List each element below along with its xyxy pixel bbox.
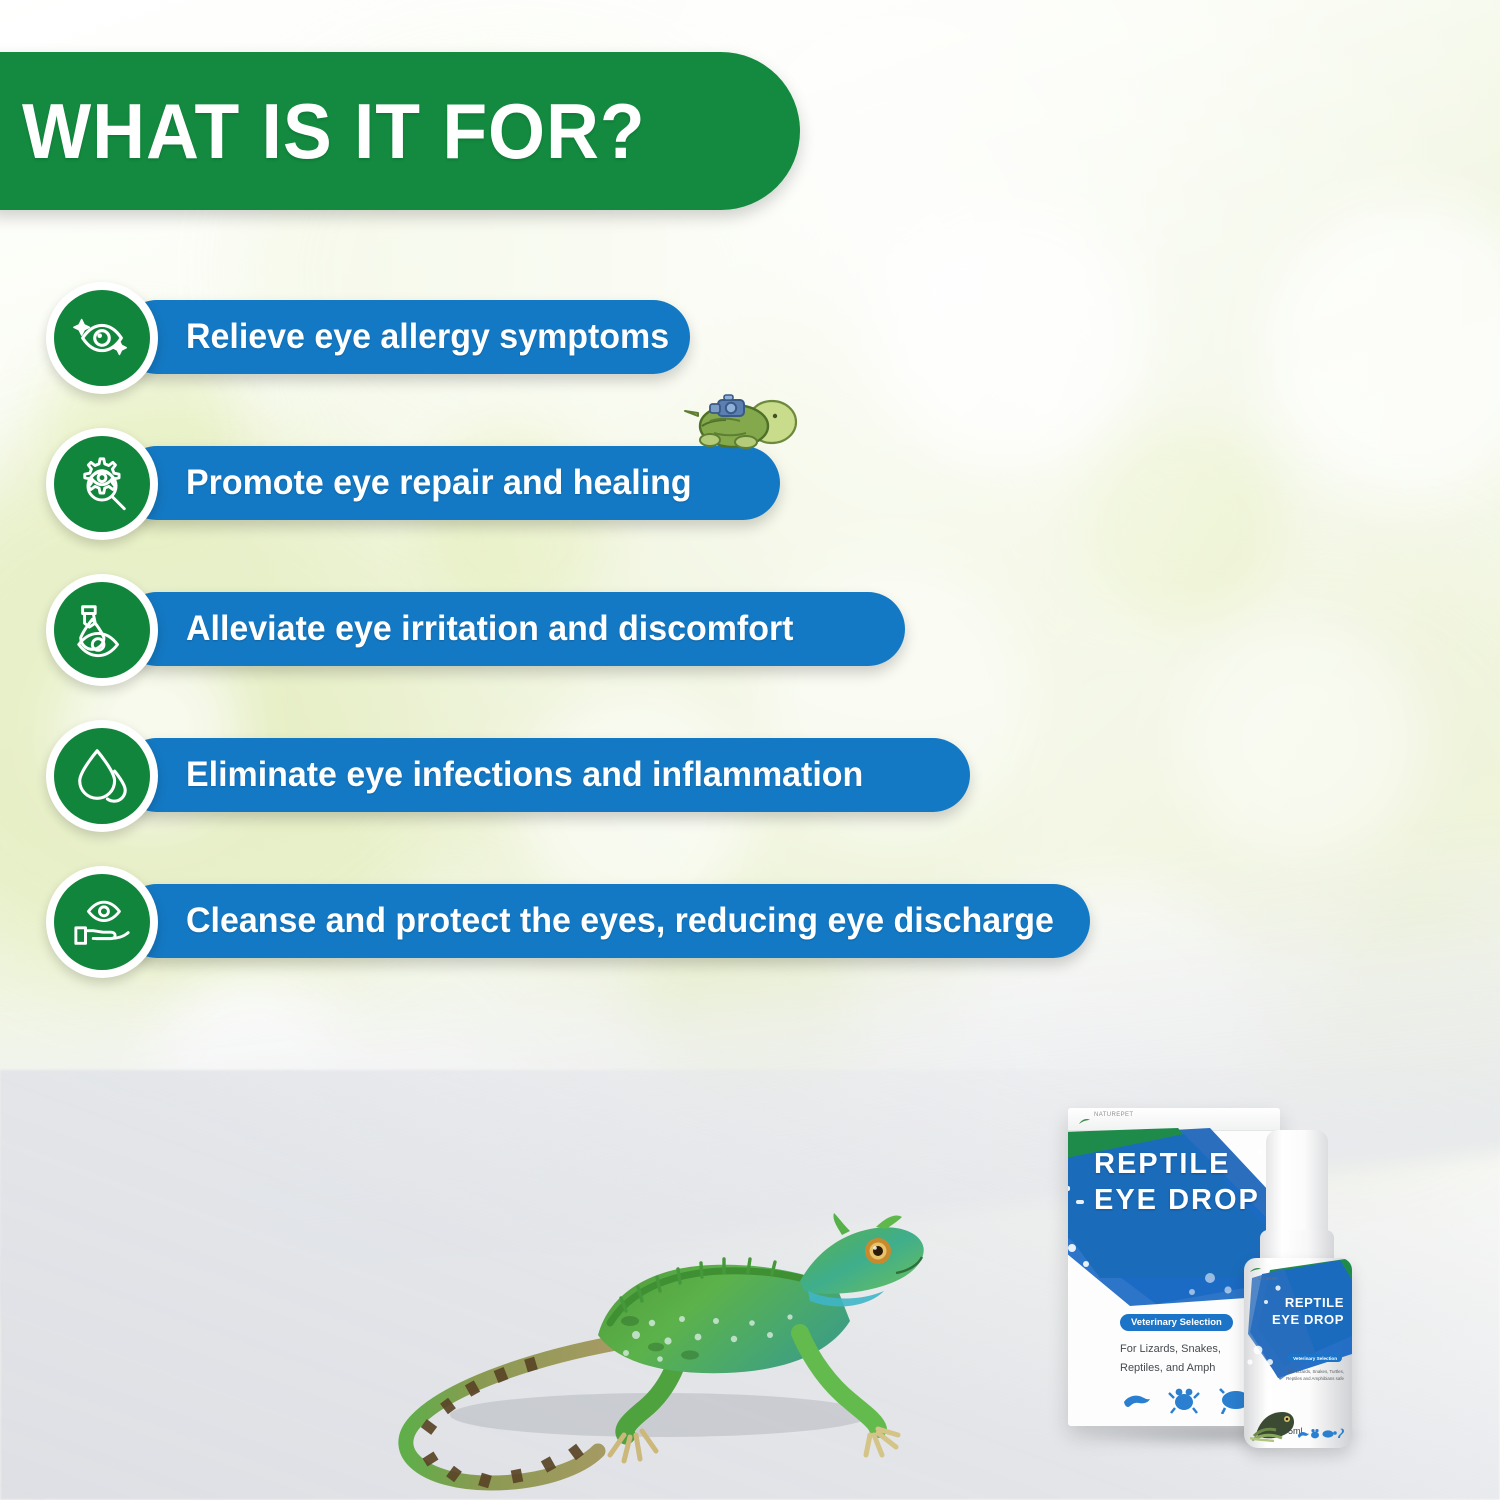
dropper-eye-icon [71, 599, 133, 661]
feature-label: Eliminate eye infections and inflammatio… [186, 755, 863, 795]
feature-label: Alleviate eye irritation and discomfort [186, 609, 793, 649]
feature-pill[interactable]: Relieve eye allergy symptoms [120, 300, 690, 374]
bottle-subtext-line2: Reptiles and Amphibians safe [1286, 1376, 1344, 1381]
turtle-silhouette-icon [1322, 1430, 1336, 1437]
product-group: NATUREPET REPTI [1060, 1090, 1420, 1460]
box-title: REPTILE EYE DROP [1094, 1146, 1260, 1218]
bottle-title-line2: EYE DROP [1272, 1312, 1344, 1327]
box-title-line2: EYE DROP [1094, 1184, 1260, 1216]
lizard-photo [330, 1085, 970, 1500]
box-subtext-line2: Reptiles, and Amph [1120, 1362, 1215, 1374]
bottle-subtext-line1: For Lizards, Snakes, Turtles, [1288, 1369, 1344, 1374]
lizard-silhouette-icon [1123, 1395, 1150, 1411]
product-bottle: NATUREPET REPTILE EYE DROP Veterinary Se… [1238, 1130, 1366, 1450]
eye-sparkle-icon [71, 307, 133, 369]
feature-row: Alleviate eye irritation and discomfort [0, 574, 1500, 720]
header-banner: WHAT IS IT FOR? [0, 52, 800, 210]
box-brand-text: NATUREPET [1094, 1112, 1134, 1118]
bottle-title-line1: REPTILE [1285, 1295, 1344, 1310]
brand-logo-icon [1078, 1113, 1091, 1122]
box-subtext: For Lizards, Snakes, Reptiles, and Amph [1120, 1340, 1221, 1378]
turtle-mascot-icon [680, 388, 804, 458]
bottle-subtext: For Lizards, Snakes, Turtles, Reptiles a… [1286, 1368, 1344, 1382]
feature-label: Promote eye repair and healing [186, 463, 692, 503]
feature-label: Relieve eye allergy symptoms [186, 317, 669, 357]
frog-silhouette-icon [1169, 1389, 1199, 1413]
water-droplets-icon [71, 745, 133, 807]
gear-eye-magnifier-icon [71, 453, 133, 515]
veterinary-badge: Veterinary Selection [1120, 1314, 1233, 1331]
bottle-label: NATUREPET REPTILE EYE DROP Veterinary Se… [1244, 1258, 1352, 1448]
feature-pill[interactable]: Eliminate eye infections and inflammatio… [120, 738, 970, 812]
snake-silhouette-icon [1338, 1429, 1344, 1438]
lizard-silhouette-icon [1298, 1432, 1309, 1438]
box-subtext-line1: For Lizards, Snakes, [1120, 1343, 1221, 1355]
hand-eye-icon [71, 891, 133, 953]
feature-pill[interactable]: Cleanse and protect the eyes, reducing e… [120, 884, 1090, 958]
feature-pill[interactable]: Alleviate eye irritation and discomfort [120, 592, 905, 666]
feature-icon-badge [46, 428, 158, 540]
brand-logo-icon [1250, 1268, 1261, 1272]
feature-row: Eliminate eye infections and inflammatio… [0, 720, 1500, 866]
feature-label: Cleanse and protect the eyes, reducing e… [186, 901, 1054, 941]
product-infographic: WHAT IS IT FOR? Relieve eye allergy symp… [0, 0, 1500, 1500]
svg-text:NATUREPET: NATUREPET [1258, 1277, 1278, 1281]
bottle-body: NATUREPET REPTILE EYE DROP Veterinary Se… [1244, 1258, 1352, 1448]
feature-row: Cleanse and protect the eyes, reducing e… [0, 866, 1500, 1012]
feature-icon-badge [46, 574, 158, 686]
feature-icon-badge [46, 282, 158, 394]
box-title-line1: REPTILE [1094, 1148, 1230, 1180]
feature-icon-badge [46, 866, 158, 978]
bottle-animal-icons [1296, 1426, 1344, 1438]
bottle-title: REPTILE EYE DROP [1272, 1294, 1344, 1328]
feature-icon-badge [46, 720, 158, 832]
page-title: WHAT IS IT FOR? [22, 86, 646, 177]
bottle-badge: Veterinary Selection [1288, 1354, 1342, 1362]
frog-silhouette-icon [1311, 1429, 1319, 1438]
